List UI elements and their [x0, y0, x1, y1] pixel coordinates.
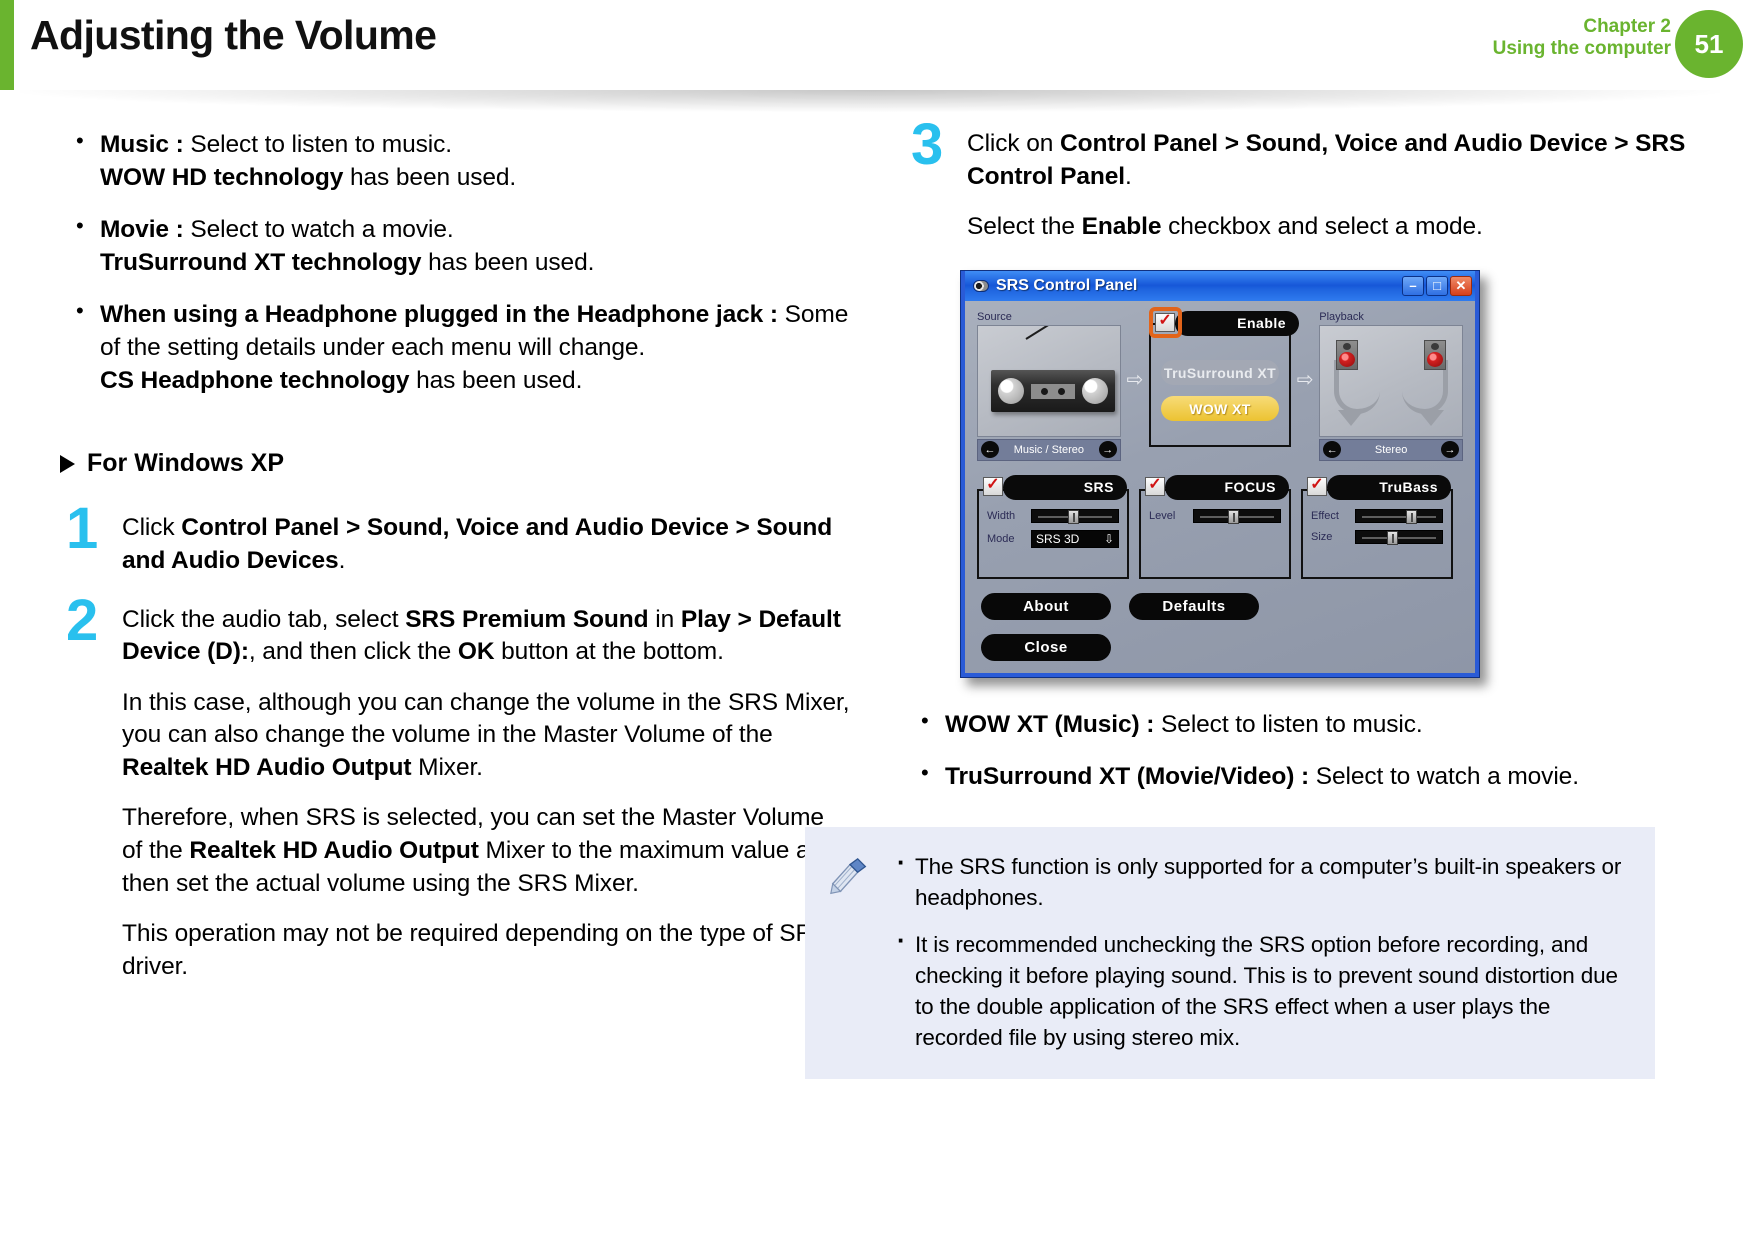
- chapter-info: Chapter 2 Using the computer: [1493, 16, 1671, 61]
- section-heading-windows-xp: For Windows XP: [60, 449, 850, 478]
- arrow-head-right-icon: [1418, 410, 1444, 426]
- arrow-left-icon[interactable]: ←: [981, 441, 999, 458]
- srs-control-panel-screenshot: SRS Control Panel – □ ✕ Source: [960, 270, 1480, 678]
- chapter-label: Chapter 2: [1493, 16, 1671, 38]
- bullet-text: Select to listen to music.: [184, 131, 452, 158]
- step-text-end: button at the bottom.: [494, 638, 723, 665]
- page-header: Adjusting the Volume Chapter 2 Using the…: [0, 0, 1749, 96]
- step-number: 1: [66, 500, 98, 558]
- control-mode: Mode SRS 3D ⇩: [987, 530, 1119, 548]
- speakers-listener-icon: [1319, 325, 1463, 437]
- control-label-mode: Mode: [987, 533, 1023, 545]
- bullet-text: Select to watch a movie.: [1309, 763, 1579, 790]
- defaults-button[interactable]: Defaults: [1129, 593, 1259, 620]
- step-2: 2 Click the audio tab, select SRS Premiu…: [60, 604, 850, 984]
- page-number-badge: 51: [1675, 10, 1743, 78]
- step-number: 3: [911, 116, 943, 174]
- control-level: Level: [1149, 509, 1281, 523]
- triangle-right-icon: [60, 455, 75, 473]
- control-width: Width: [987, 509, 1119, 523]
- source-label: Source: [977, 311, 1121, 323]
- mode-list: TruSurround XT WOW XT: [1149, 323, 1291, 447]
- slider-level[interactable]: [1193, 509, 1281, 523]
- close-icon[interactable]: ✕: [1450, 276, 1472, 296]
- minimize-icon[interactable]: –: [1402, 276, 1424, 296]
- button-row-2: Close: [977, 634, 1463, 661]
- paragraph-text: In this case, although you can change th…: [122, 689, 849, 749]
- note-pen-icon: [827, 851, 875, 1053]
- speaker-left-icon: [1336, 340, 1358, 370]
- dropdown-mode[interactable]: SRS 3D ⇩: [1031, 530, 1119, 548]
- bullet-label-2: CS Headphone technology: [100, 367, 409, 394]
- srs-body: Source: [965, 301, 1475, 673]
- srs-window-title: SRS Control Panel: [996, 277, 1395, 295]
- effect-panel-trubass: TruBass Effect Size: [1301, 475, 1453, 579]
- page-title: Adjusting the Volume: [30, 12, 436, 59]
- effect-tab-label-trubass: TruBass: [1327, 475, 1451, 500]
- bullet-label: Movie :: [100, 216, 184, 243]
- listener-figure-icon: [1380, 356, 1402, 404]
- control-label-size: Size: [1311, 531, 1347, 543]
- left-column: Music : Select to listen to music. WOW H…: [60, 128, 850, 1009]
- source-selector-value: Music / Stereo: [1014, 444, 1084, 456]
- slider-knob[interactable]: [1228, 510, 1239, 524]
- playback-selector[interactable]: ← Stereo →: [1319, 439, 1463, 461]
- step-text-bold: OK: [458, 638, 495, 665]
- speaker-left-icon: [998, 378, 1024, 404]
- paragraph-text-end: Mixer.: [411, 754, 482, 781]
- bullet-label: TruSurround XT (Movie/Video) :: [945, 763, 1309, 790]
- effect-panel-srs: SRS Width Mode SRS 3D ⇩: [977, 475, 1129, 579]
- slider-width[interactable]: [1031, 509, 1119, 523]
- paragraph-bold: Enable: [1082, 213, 1162, 240]
- enable-tab-label: Enable: [1175, 311, 1299, 336]
- effect-controls-focus: Level: [1139, 489, 1291, 579]
- slider-effect[interactable]: [1355, 509, 1443, 523]
- bullet-text-2: has been used.: [343, 164, 516, 191]
- srs-signal-chain: Source: [977, 311, 1463, 461]
- step-body: Click Control Panel > Sound, Voice and A…: [122, 512, 850, 577]
- effect-panel-focus: FOCUS Level: [1139, 475, 1291, 579]
- header-accent-bar: [0, 0, 14, 90]
- effect-controls-srs: Width Mode SRS 3D ⇩: [977, 489, 1129, 579]
- control-label-width: Width: [987, 510, 1023, 522]
- step-text: , and then click the: [249, 638, 458, 665]
- paragraph: Select the Enable checkbox and select a …: [967, 211, 1695, 244]
- list-item: Movie : Select to watch a movie. TruSurr…: [60, 213, 850, 279]
- chapter-subtitle: Using the computer: [1493, 38, 1671, 60]
- section-heading-label: For Windows XP: [87, 449, 284, 478]
- header-shadow: [20, 90, 1720, 112]
- slider-knob[interactable]: [1387, 531, 1398, 545]
- maximize-icon[interactable]: □: [1426, 276, 1448, 296]
- note-list: The SRS function is only supported for a…: [889, 851, 1629, 1053]
- list-item: When using a Headphone plugged in the He…: [60, 298, 850, 397]
- effect-checkbox-srs[interactable]: [983, 477, 1003, 496]
- right-column: 3 Click on Control Panel > Sound, Voice …: [905, 128, 1695, 1079]
- paragraph: Therefore, when SRS is selected, you can…: [122, 802, 850, 900]
- right-bullet-list: WOW XT (Music) : Select to listen to mus…: [905, 708, 1695, 793]
- step-number: 2: [66, 592, 98, 650]
- arrow-right-icon[interactable]: →: [1099, 441, 1117, 458]
- step-text-end: .: [1125, 163, 1132, 190]
- mode-trusurround-xt[interactable]: TruSurround XT: [1161, 360, 1279, 385]
- speaker-right-icon: [1424, 340, 1446, 370]
- about-button[interactable]: About: [981, 593, 1111, 620]
- radio-boombox-icon: [977, 325, 1121, 437]
- speaker-right-icon: [1082, 378, 1108, 404]
- note-item: The SRS function is only supported for a…: [889, 851, 1629, 913]
- list-item: WOW XT (Music) : Select to listen to mus…: [905, 708, 1695, 741]
- paragraph: This operation may not be required depen…: [122, 918, 850, 983]
- effect-controls-trubass: Effect Size: [1301, 489, 1453, 579]
- enable-panel: Enable TruSurround XT WOW XT: [1149, 311, 1291, 447]
- step-3: 3 Click on Control Panel > Sound, Voice …: [905, 128, 1695, 244]
- playback-label: Playback: [1319, 311, 1463, 323]
- list-item: Music : Select to listen to music. WOW H…: [60, 128, 850, 194]
- paragraph-bold: Realtek HD Audio Output: [189, 837, 478, 864]
- bullet-text-2: has been used.: [409, 367, 582, 394]
- source-selector[interactable]: ← Music / Stereo →: [977, 439, 1121, 461]
- slider-size[interactable]: [1355, 530, 1443, 544]
- dropdown-value-mode: SRS 3D: [1036, 532, 1079, 546]
- step-1: 1 Click Control Panel > Sound, Voice and…: [60, 512, 850, 577]
- arrow-left-icon[interactable]: ←: [1323, 441, 1341, 458]
- control-effect: Effect: [1311, 509, 1443, 523]
- cassette-deck-icon: [1031, 382, 1075, 399]
- flow-arrow-icon: ⇨: [1121, 311, 1149, 449]
- step-text-bold: Control Panel > Sound, Voice and Audio D…: [122, 514, 832, 574]
- paragraph: In this case, although you can change th…: [122, 687, 850, 785]
- step-body: Click on Control Panel > Sound, Voice an…: [967, 128, 1695, 193]
- enable-highlight-box: [1149, 307, 1182, 338]
- bullet-text-2: has been used.: [421, 249, 594, 276]
- step-text: Click: [122, 514, 181, 541]
- effect-checkbox-trubass[interactable]: [1307, 477, 1327, 496]
- effect-tab-label-focus: FOCUS: [1165, 475, 1289, 500]
- step-text-bold: Control Panel > Sound, Voice and Audio D…: [967, 130, 1685, 190]
- step-text-end: .: [339, 547, 346, 574]
- deck-reels: [1031, 384, 1075, 399]
- mode-wow-xt[interactable]: WOW XT: [1161, 396, 1279, 421]
- arrow-head-left-icon: [1338, 410, 1364, 426]
- effects-row: SRS Width Mode SRS 3D ⇩: [977, 475, 1463, 579]
- srs-app-icon: [973, 280, 989, 292]
- radio-body: [991, 370, 1115, 412]
- step-body: Click the audio tab, select SRS Premium …: [122, 604, 850, 669]
- arrow-right-icon[interactable]: →: [1441, 441, 1459, 458]
- srs-titlebar: SRS Control Panel – □ ✕: [965, 271, 1475, 301]
- bullet-label-2: WOW HD technology: [100, 164, 343, 191]
- note-box: The SRS function is only supported for a…: [805, 827, 1655, 1079]
- bullet-label: WOW XT (Music) :: [945, 711, 1154, 738]
- control-label-level: Level: [1149, 510, 1185, 522]
- antenna-icon: [1025, 325, 1087, 340]
- playback-panel: Playback: [1319, 311, 1463, 461]
- srs-window: SRS Control Panel – □ ✕ Source: [960, 270, 1480, 678]
- slider-knob[interactable]: [1406, 510, 1417, 524]
- source-panel: Source: [977, 311, 1121, 461]
- effect-tab-label-srs: SRS: [1003, 475, 1127, 500]
- window-controls: – □ ✕: [1402, 276, 1472, 296]
- control-size: Size: [1311, 530, 1443, 544]
- button-row-1: About Defaults: [977, 593, 1463, 620]
- playback-selector-value: Stereo: [1375, 444, 1407, 456]
- note-item: It is recommended unchecking the SRS opt…: [889, 929, 1629, 1053]
- bullet-text: Select to watch a movie.: [184, 216, 454, 243]
- slider-knob[interactable]: [1068, 510, 1079, 524]
- effect-checkbox-focus[interactable]: [1145, 477, 1165, 496]
- chevron-down-icon[interactable]: ⇩: [1104, 532, 1114, 546]
- bullet-text: Select to listen to music.: [1154, 711, 1422, 738]
- step-text: Click the audio tab, select: [122, 606, 405, 633]
- control-label-effect: Effect: [1311, 510, 1347, 522]
- step-text: in: [649, 606, 681, 633]
- bullet-label: Music :: [100, 131, 184, 158]
- step-text-bold: SRS Premium Sound: [405, 606, 648, 633]
- paragraph-text-end: checkbox and select a mode.: [1161, 213, 1482, 240]
- bullet-label-2: TruSurround XT technology: [100, 249, 421, 276]
- close-button[interactable]: Close: [981, 634, 1111, 661]
- step-text: Click on: [967, 130, 1060, 157]
- paragraph-text: Select the: [967, 213, 1082, 240]
- list-item: TruSurround XT (Movie/Video) : Select to…: [905, 760, 1695, 793]
- paragraph-bold: Realtek HD Audio Output: [122, 754, 411, 781]
- bullet-label: When using a Headphone plugged in the He…: [100, 301, 778, 328]
